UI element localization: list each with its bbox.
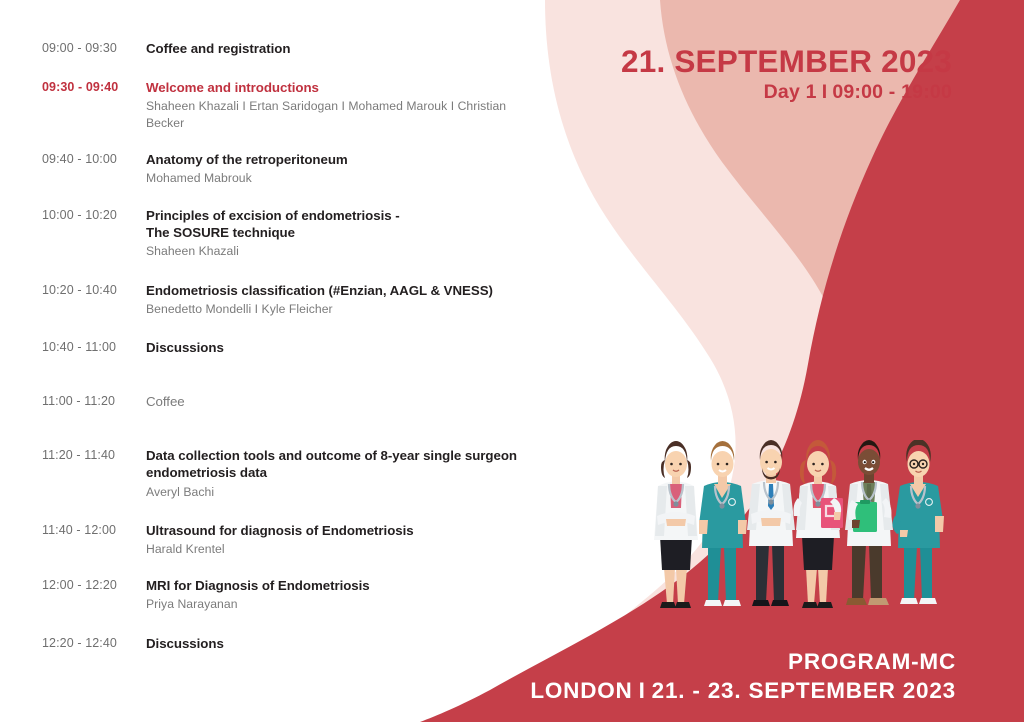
agenda-row-time: 12:20 - 12:40 (42, 635, 146, 652)
agenda-row-body: Discussions (146, 339, 542, 356)
agenda-row-speakers: Shaheen Khazali I Ertan Saridogan I Moha… (146, 98, 542, 131)
footer-program-title: PROGRAM-MC (530, 649, 956, 675)
agenda-row-body: Data collection tools and outcome of 8-y… (146, 447, 542, 500)
agenda-row: 09:00 - 09:30Coffee and registration (42, 40, 542, 57)
medical-team-illustration (648, 440, 968, 625)
agenda-row-time: 09:40 - 10:00 (42, 151, 146, 168)
agenda-row-body: Coffee and registration (146, 40, 542, 57)
agenda-row: 11:20 - 11:40Data collection tools and o… (42, 447, 542, 500)
agenda-row-speakers: Shaheen Khazali (146, 243, 542, 259)
agenda-row-body: Welcome and introductionsShaheen Khazali… (146, 79, 542, 131)
header-date: 21. SEPTEMBER 2023 (621, 44, 952, 78)
agenda-row-time: 09:00 - 09:30 (42, 40, 146, 57)
person-male-doctor-3 (747, 440, 795, 606)
agenda-row-body: Ultrasound for diagnosis of Endometriosi… (146, 522, 542, 557)
header-day-line: Day 1I09:00 - 19:00 (621, 81, 952, 104)
person-male-doctor-5 (845, 440, 893, 605)
agenda-row-time: 09:30 - 09:40 (42, 79, 146, 96)
person-male-nurse-2 (699, 441, 747, 606)
agenda-row-body: Endometriosis classification (#Enzian, A… (146, 282, 542, 317)
agenda-row-speakers: Harald Krentel (146, 541, 542, 557)
program-poster: 09:00 - 09:30Coffee and registration09:3… (0, 0, 1024, 722)
agenda-row-time: 10:20 - 10:40 (42, 282, 146, 299)
agenda-row-body: Coffee (146, 393, 542, 410)
agenda-row-speakers: Averyl Bachi (146, 484, 542, 500)
agenda-row-time: 10:00 - 10:20 (42, 207, 146, 224)
agenda-row-title: Anatomy of the retroperitoneum (146, 151, 542, 168)
agenda-row-title: Principles of excision of endometriosis … (146, 207, 542, 241)
agenda-list: 09:00 - 09:30Coffee and registration09:3… (42, 40, 542, 652)
agenda-row-body: Anatomy of the retroperitoneumMohamed Ma… (146, 151, 542, 186)
header-separator: I (817, 81, 833, 103)
agenda-row: 10:00 - 10:20Principles of excision of e… (42, 207, 542, 260)
agenda-row: 11:00 - 11:20Coffee (42, 393, 542, 410)
header-day-label: Day 1 (764, 81, 817, 103)
agenda-row-time: 11:40 - 12:00 (42, 522, 146, 539)
header-time-range: 09:00 - 19:00 (832, 81, 952, 103)
footer-block: PROGRAM-MC LONDONI21. - 23. SEPTEMBER 20… (530, 649, 956, 704)
agenda-row-title: Ultrasound for diagnosis of Endometriosi… (146, 522, 542, 539)
footer-separator: I (633, 678, 652, 703)
agenda-row-title: Welcome and introductions (146, 79, 542, 96)
person-female-doctor-1 (654, 441, 698, 608)
footer-location-line: LONDONI21. - 23. SEPTEMBER 2023 (530, 678, 956, 704)
agenda-row-title: Data collection tools and outcome of 8-y… (146, 447, 542, 481)
agenda-row-speakers: Benedetto Mondelli I Kyle Fleicher (146, 301, 542, 317)
agenda-row: 09:40 - 10:00Anatomy of the retroperiton… (42, 151, 542, 186)
agenda-row-title: Endometriosis classification (#Enzian, A… (146, 282, 542, 299)
agenda-row: 10:40 - 11:00Discussions (42, 339, 542, 356)
agenda-row-title: Coffee (146, 393, 542, 410)
agenda-row-speakers: Mohamed Mabrouk (146, 170, 542, 186)
header-block: 21. SEPTEMBER 2023 Day 1I09:00 - 19:00 (621, 44, 952, 104)
agenda-row-title: Discussions (146, 635, 542, 652)
agenda-row-time: 10:40 - 11:00 (42, 339, 146, 356)
agenda-row-time: 11:20 - 11:40 (42, 447, 146, 464)
agenda-row-title: MRI for Diagnosis of Endometriosis (146, 577, 542, 594)
person-female-doctor-4 (794, 440, 844, 608)
person-female-nurse-6 (892, 440, 944, 604)
agenda-row: 09:30 - 09:40Welcome and introductionsSh… (42, 79, 542, 131)
agenda-row-time: 11:00 - 11:20 (42, 393, 146, 410)
agenda-row-speakers: Priya Narayanan (146, 596, 542, 612)
agenda-row-body: Principles of excision of endometriosis … (146, 207, 542, 260)
agenda-row-time: 12:00 - 12:20 (42, 577, 146, 594)
agenda-row: 12:20 - 12:40Discussions (42, 635, 542, 652)
agenda-row: 10:20 - 10:40Endometriosis classificatio… (42, 282, 542, 317)
footer-city: LONDON (530, 678, 632, 703)
agenda-row-title: Coffee and registration (146, 40, 542, 57)
agenda-row-body: MRI for Diagnosis of EndometriosisPriya … (146, 577, 542, 612)
agenda-row: 11:40 - 12:00Ultrasound for diagnosis of… (42, 522, 542, 557)
agenda-row: 12:00 - 12:20MRI for Diagnosis of Endome… (42, 577, 542, 612)
agenda-row-title: Discussions (146, 339, 542, 356)
agenda-row-body: Discussions (146, 635, 542, 652)
footer-dates: 21. - 23. SEPTEMBER 2023 (652, 678, 956, 703)
